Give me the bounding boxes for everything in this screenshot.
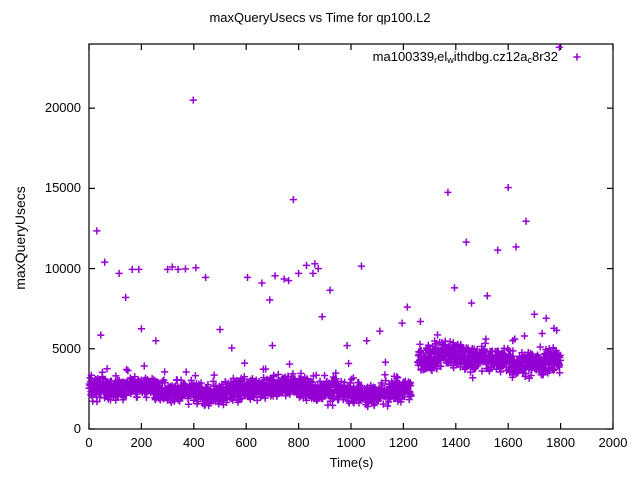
data-point-layer [86,44,564,410]
legend-key-marker [564,48,590,66]
y-tick-label: 10000 [1,262,81,275]
y-tick-label: 5000 [1,342,81,355]
plot-area [0,0,640,480]
chart-container: maxQueryUsecs vs Time for qp100.L2 maxQu… [0,0,640,480]
y-tick-label: 20000 [1,101,81,114]
legend-entry-label: ma100339relwithdbg.cz12ac8r32 [373,49,558,65]
y-tick-label: 0 [1,422,81,435]
x-tick-label: 2000 [573,436,640,449]
legend: ma100339relwithdbg.cz12ac8r32 [300,48,590,68]
y-tick-label: 15000 [1,181,81,194]
